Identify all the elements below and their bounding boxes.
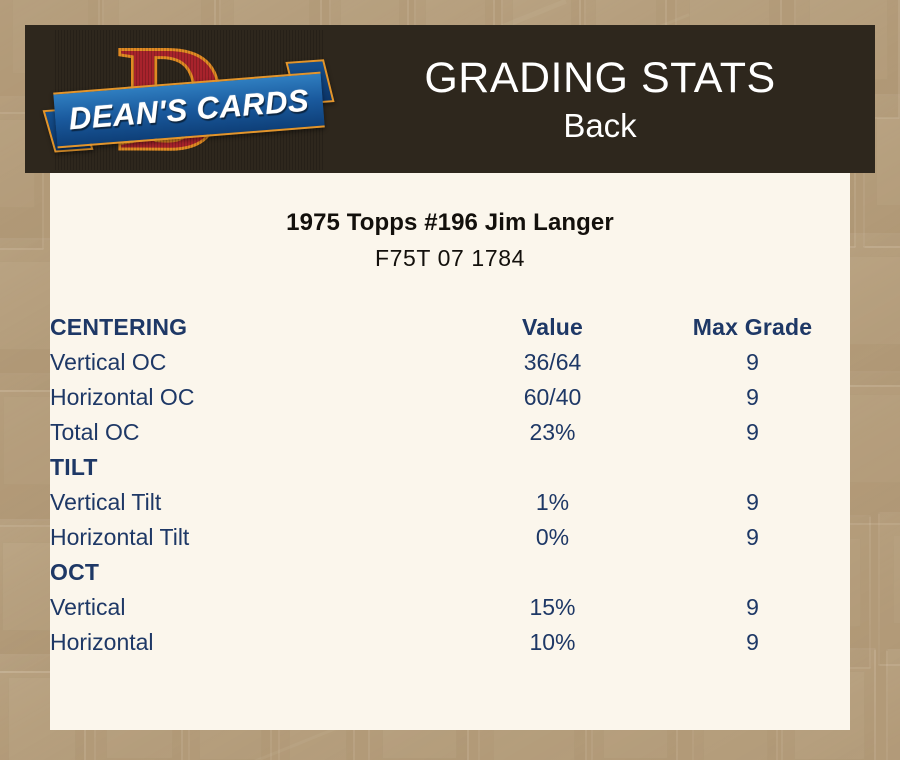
row-max-grade: 9: [655, 345, 850, 380]
background-card-ghost: [886, 649, 900, 760]
section-grade-spacer: [655, 450, 850, 485]
section-value-spacer: [450, 450, 655, 485]
row-max-grade: 9: [655, 415, 850, 450]
row-label: Horizontal: [50, 625, 450, 660]
grading-stats-body: CENTERING Value Max Grade Vertical OC36/…: [50, 310, 850, 660]
column-header-centering: CENTERING: [50, 310, 450, 345]
row-label: Vertical Tilt: [50, 485, 450, 520]
row-max-grade: 9: [655, 485, 850, 520]
row-label: Horizontal OC: [50, 380, 450, 415]
background-card-ghost: [878, 512, 900, 666]
page-title: GRADING STATS: [424, 51, 775, 105]
section-grade-spacer: [655, 555, 850, 590]
card-serial: F75T 07 1784: [50, 245, 850, 272]
section-title: OCT: [50, 555, 450, 590]
column-header-value: Value: [450, 310, 655, 345]
logo-banner-text: DEAN'S CARDS: [68, 83, 311, 138]
row-value: 0%: [450, 520, 655, 555]
row-max-grade: 9: [655, 380, 850, 415]
table-section-header-row: TILT: [50, 450, 850, 485]
row-max-grade: 9: [655, 590, 850, 625]
row-value: 1%: [450, 485, 655, 520]
grading-stats-table: CENTERING Value Max Grade Vertical OC36/…: [50, 310, 850, 660]
table-row: Vertical OC36/649: [50, 345, 850, 380]
content-panel: 1975 Topps #196 Jim Langer F75T 07 1784 …: [50, 173, 850, 730]
row-max-grade: 9: [655, 625, 850, 660]
row-value: 60/40: [450, 380, 655, 415]
table-header-row: CENTERING Value Max Grade: [50, 310, 850, 345]
section-value-spacer: [450, 555, 655, 590]
row-value: 10%: [450, 625, 655, 660]
row-label: Horizontal Tilt: [50, 520, 450, 555]
row-label: Vertical OC: [50, 345, 450, 380]
card-title: 1975 Topps #196 Jim Langer: [50, 209, 850, 237]
deans-cards-logo[interactable]: D DEAN'S CARDS: [55, 30, 325, 170]
row-value: 15%: [450, 590, 655, 625]
section-title: TILT: [50, 450, 450, 485]
page-subtitle: Back: [563, 105, 636, 147]
row-value: 23%: [450, 415, 655, 450]
table-section-header-row: OCT: [50, 555, 850, 590]
logo-banner: DEAN'S CARDS: [53, 72, 325, 149]
table-row: Horizontal OC60/409: [50, 380, 850, 415]
row-label: Total OC: [50, 415, 450, 450]
table-row: Total OC23%9: [50, 415, 850, 450]
header-title-group: GRADING STATS Back: [325, 25, 875, 173]
column-header-max-grade: Max Grade: [655, 310, 850, 345]
row-max-grade: 9: [655, 520, 850, 555]
table-row: Horizontal10%9: [50, 625, 850, 660]
row-label: Vertical: [50, 590, 450, 625]
table-row: Vertical15%9: [50, 590, 850, 625]
header-bar: D DEAN'S CARDS GRADING STATS Back: [25, 25, 875, 173]
row-value: 36/64: [450, 345, 655, 380]
table-row: Vertical Tilt1%9: [50, 485, 850, 520]
table-row: Horizontal Tilt0%9: [50, 520, 850, 555]
